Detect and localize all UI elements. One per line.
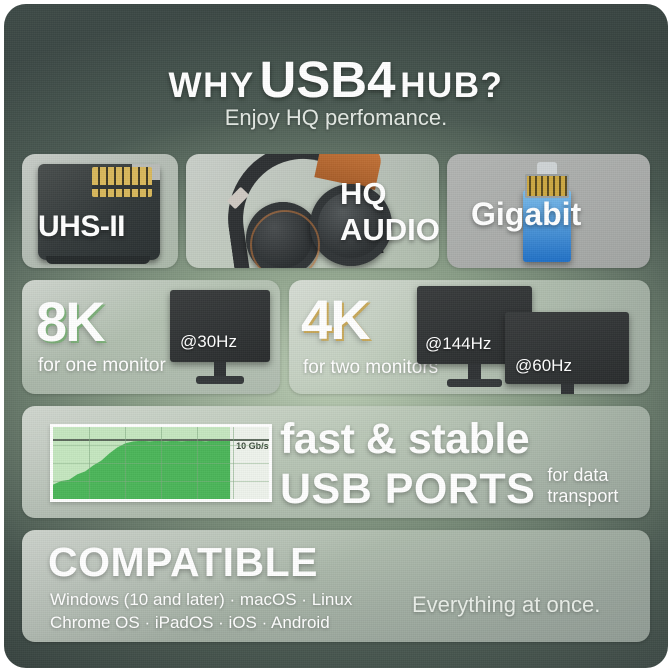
- footer-tagline: Everything at once.: [412, 592, 600, 618]
- card-4k-monitors: 4K for two monitors @144Hz @60Hz: [289, 280, 650, 394]
- rj45-gold-pins: [525, 174, 569, 198]
- chart-gridline-horizontal: [53, 463, 269, 464]
- card-compatible-title: COMPATIBLE: [48, 542, 318, 583]
- usb-ports-note-line1: for data: [547, 465, 618, 486]
- card-hq-audio: HQ AUDIO: [186, 154, 439, 268]
- monitor-stand-base: [447, 379, 502, 387]
- card-uhs-ii: UHS-II: [22, 154, 178, 268]
- page-title: WHY USB4 HUB?: [4, 50, 668, 109]
- poster-canvas: WHY USB4 HUB? Enjoy HQ perfomance. UHS-I…: [4, 4, 668, 668]
- card-usb-ports: 10 Gb/s fast & stable USB PORTS for data…: [22, 406, 650, 518]
- monitor-stand-base: [196, 376, 244, 384]
- chart-gridline-horizontal: [53, 481, 269, 482]
- card-8k-monitor: 8K for one monitor @30Hz: [22, 280, 280, 394]
- microsd-contacts-icon: [92, 167, 152, 197]
- monitor-refresh-label: @30Hz: [180, 332, 237, 352]
- card-8k-sublabel: for one monitor: [38, 356, 166, 375]
- monitor-refresh-label: @60Hz: [515, 356, 572, 376]
- compatible-os-list: Windows (10 and later) · macOS · Linux C…: [50, 588, 352, 635]
- chart-threshold-label: 10 Gb/s: [236, 441, 269, 451]
- compatible-os-line2: Chrome OS · iPadOS · iOS · Android: [50, 611, 352, 634]
- usb-ports-line2: USB PORTS: [280, 468, 535, 511]
- microsd-lip: [46, 256, 150, 264]
- usb-ports-note: for data transport: [547, 465, 618, 507]
- card-uhs-ii-label: UHS-II: [38, 212, 125, 242]
- hq-audio-line1: HQ: [340, 178, 439, 209]
- title-word-why: WHY: [169, 66, 255, 105]
- compatible-os-line1: Windows (10 and later) · macOS · Linux: [50, 588, 352, 611]
- card-usb-ports-text: fast & stable USB PORTS for data transpo…: [280, 418, 618, 511]
- card-gigabit: Gigabit: [447, 154, 650, 268]
- throughput-area-chart: 10 Gb/s: [50, 424, 272, 502]
- chart-gridline-horizontal: [53, 445, 269, 446]
- card-hq-audio-label: HQ AUDIO: [340, 178, 439, 245]
- card-4k-label: 4K: [301, 292, 369, 348]
- hq-audio-line2: AUDIO: [340, 214, 439, 245]
- card-gigabit-label: Gigabit: [471, 198, 581, 230]
- monitor-refresh-label: @144Hz: [425, 334, 491, 354]
- card-8k-label: 8K: [36, 294, 104, 350]
- usb-ports-line1: fast & stable: [280, 418, 618, 461]
- card-compatible: COMPATIBLE Windows (10 and later) · macO…: [22, 530, 650, 642]
- page-subtitle: Enjoy HQ perfomance.: [4, 105, 668, 131]
- title-word-hub: HUB?: [400, 66, 503, 105]
- title-word-usb4: USB4: [259, 51, 395, 108]
- usb-ports-note-line2: transport: [547, 486, 618, 507]
- monitor-stand-neck: [561, 384, 574, 394]
